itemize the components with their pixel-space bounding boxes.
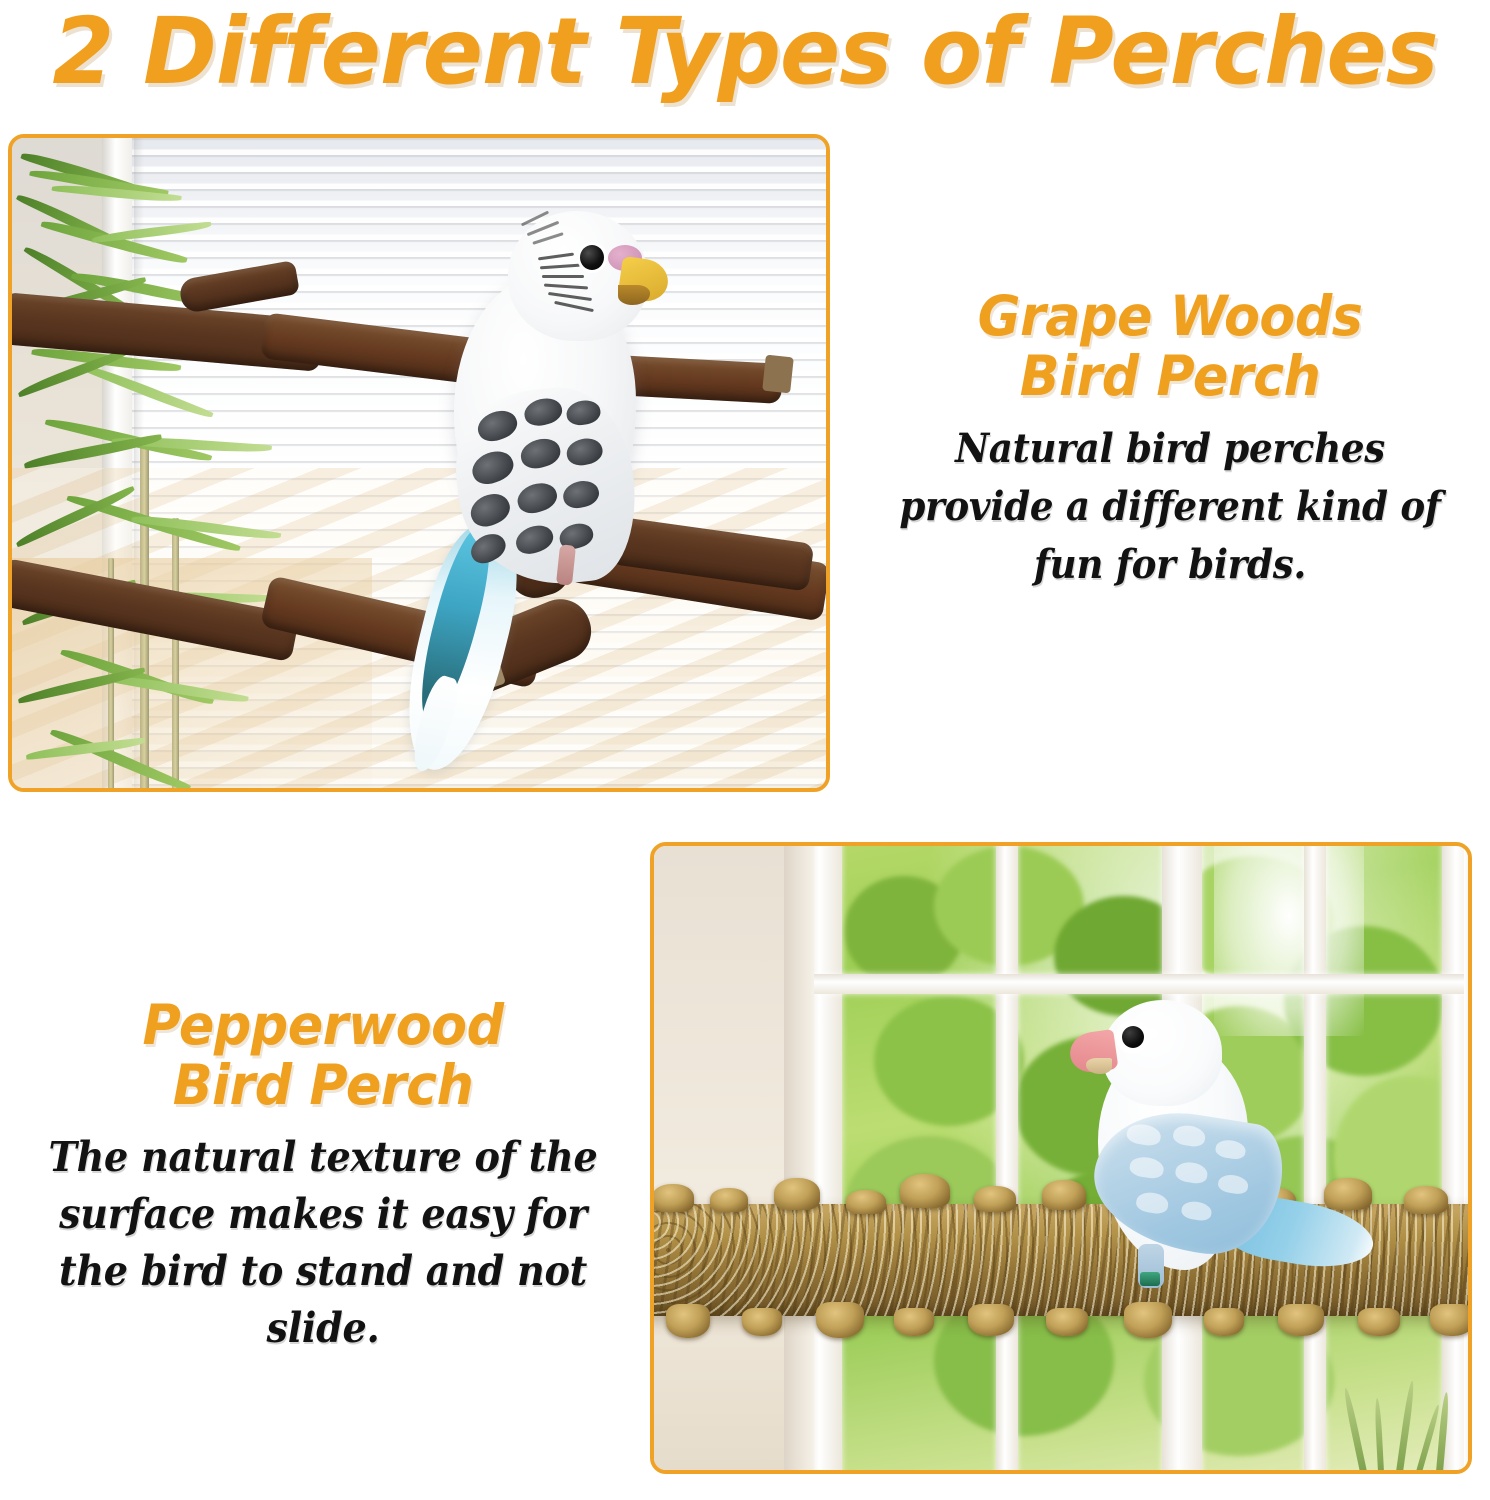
pepperwood-scene xyxy=(654,846,1468,1470)
bird-beak-lower xyxy=(618,285,650,305)
grape-woods-heading: Grape Woods Bird Perch xyxy=(876,286,1465,406)
grape-woods-photo xyxy=(8,134,830,792)
pepperwood-heading-line1: Pepperwood xyxy=(26,995,621,1055)
grape-woods-text-block: Grape Woods Bird Perch Natural bird perc… xyxy=(860,286,1480,594)
interior-wall-left xyxy=(654,846,784,1470)
lovebird-beak-lower xyxy=(1086,1058,1112,1074)
pepperwood-body: The natural texture of the surface makes… xyxy=(32,1129,614,1357)
grape-woods-heading-line2: Bird Perch xyxy=(876,346,1465,406)
pepperwood-heading-line2: Bird Perch xyxy=(26,1055,621,1115)
lovebird xyxy=(1042,996,1372,1326)
lovebird-head xyxy=(1102,1000,1222,1106)
page-title: 2 Different Types of Perches xyxy=(26,0,1464,108)
grape-woods-body: Natural bird perches provide a different… xyxy=(882,420,1459,594)
wall-edge xyxy=(784,846,814,1470)
window-frame-right xyxy=(1464,846,1468,1470)
pepperwood-photo xyxy=(650,842,1472,1474)
pepperwood-text-block: Pepperwood Bird Perch The natural textur… xyxy=(10,995,636,1357)
grape-woods-heading-line1: Grape Woods xyxy=(876,286,1465,346)
pepperwood-heading: Pepperwood Bird Perch xyxy=(26,995,621,1115)
lovebird-leg-band xyxy=(1140,1272,1160,1286)
grape-woods-scene xyxy=(12,138,826,788)
budgerigar-bird xyxy=(412,193,742,753)
bird-eye xyxy=(580,245,604,270)
lovebird-eye xyxy=(1122,1026,1144,1048)
